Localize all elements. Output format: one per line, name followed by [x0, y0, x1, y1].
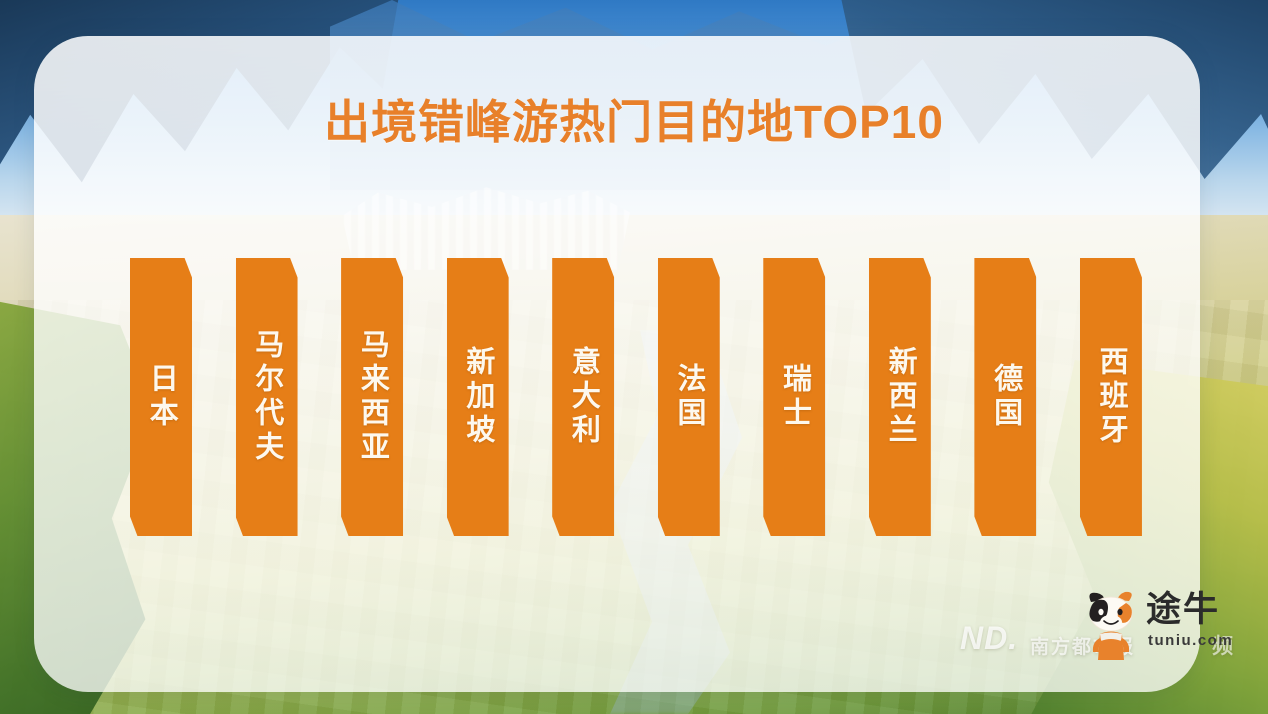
cow-mascot-icon: [1080, 588, 1142, 660]
bar-rank-9[interactable]: 德国: [974, 258, 1036, 536]
bar-label: 马来西亚: [356, 329, 388, 465]
bar-chart: 日本 马尔代夫 马来西亚 新加坡 意大利 法国 瑞士 新西兰 德国 西班牙: [130, 258, 1142, 536]
bar-rank-1[interactable]: 日本: [130, 258, 192, 536]
bar-label: 马尔代夫: [250, 329, 282, 465]
bar-rank-4[interactable]: 新加坡: [447, 258, 509, 536]
bar-rank-3[interactable]: 马来西亚: [341, 258, 403, 536]
bar-rank-6[interactable]: 法国: [658, 258, 720, 536]
bar-label: 日本: [145, 363, 177, 431]
bar-rank-7[interactable]: 瑞士: [763, 258, 825, 536]
logo-wordmark: 途牛: [1146, 592, 1220, 627]
bar-label: 法国: [673, 363, 705, 431]
bar-label: 新加坡: [461, 346, 493, 448]
logo-url: tuniu.com: [1148, 632, 1233, 649]
page-title: 出境错峰游热门目的地TOP10: [0, 86, 1268, 152]
watermark-nd: ND.: [960, 620, 1018, 657]
bar-rank-10[interactable]: 西班牙: [1080, 258, 1142, 536]
bar-label: 瑞士: [778, 363, 810, 431]
infographic-stage: 出境错峰游热门目的地TOP10 日本 马尔代夫 马来西亚 新加坡 意大利 法国 …: [0, 0, 1268, 714]
bar-label: 西班牙: [1095, 346, 1127, 448]
bar-label: 德国: [989, 363, 1021, 431]
bar-rank-8[interactable]: 新西兰: [869, 258, 931, 536]
bar-rank-5[interactable]: 意大利: [552, 258, 614, 536]
tuniu-logo[interactable]: 途牛 tuniu.com: [1080, 588, 1240, 666]
bar-rank-2[interactable]: 马尔代夫: [236, 258, 298, 536]
bar-label: 意大利: [567, 346, 599, 448]
bar-label: 新西兰: [884, 346, 916, 448]
